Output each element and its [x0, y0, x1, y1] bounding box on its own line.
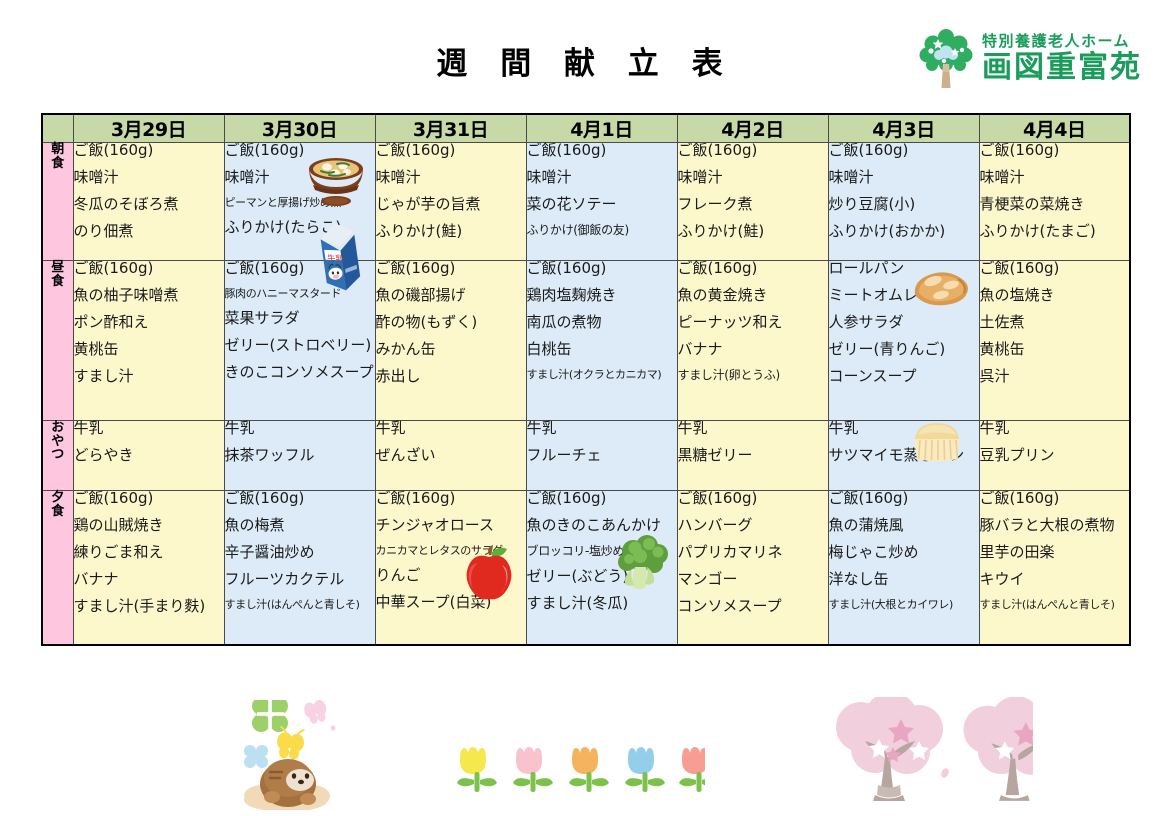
dish-item: ご飯(160g)	[225, 143, 375, 158]
dish-item: みかん缶	[376, 342, 526, 357]
dish-item: サツマイモ蒸しパン	[829, 448, 979, 463]
dish-item: 豚肉のハニーマスタード	[225, 288, 375, 299]
menu-cell: 牛乳抹茶ワッフル	[224, 421, 375, 491]
dish-item: 炒り豆腐(小)	[829, 197, 979, 212]
dish-item: ゼリー(青りんご)	[829, 342, 979, 357]
dish-item: ブロッコリ-塩炒め	[527, 545, 677, 557]
dish-item: 牛乳	[678, 421, 828, 436]
dish-item: フルーツカクテル	[225, 572, 375, 587]
meal-row-0: 朝食ご飯(160g)味噌汁冬瓜のそぼろ煮のり佃煮ご飯(160g)味噌汁ピーマンと…	[42, 143, 1130, 261]
menu-page: 週 間 献 立 表	[0, 0, 1170, 816]
dish-item: ご飯(160g)	[225, 261, 375, 276]
dish-item: すまし汁(オクラとカニカマ)	[527, 369, 677, 380]
menu-cell: ご飯(160g)味噌汁冬瓜のそぼろ煮のり佃煮	[73, 143, 224, 261]
dish-item: 牛乳	[225, 421, 375, 436]
dish-item: バナナ	[678, 342, 828, 357]
dish-item: コンソメスープ	[678, 599, 828, 614]
dish-item: きのこコンソメスープ	[225, 365, 375, 380]
meal-label-char: 食	[43, 275, 73, 289]
menu-cell: ご飯(160g)味噌汁フレーク煮ふりかけ(鮭)	[677, 143, 828, 261]
dish-item: ミートオムレツ	[829, 288, 979, 303]
meal-label-char: つ	[43, 448, 73, 462]
meal-label-char: 昼	[43, 261, 73, 275]
dish-item: ポン酢和え	[74, 315, 224, 330]
footer-decorations	[0, 700, 1170, 816]
day-header-4: 4月1日	[526, 114, 677, 143]
dish-item: ご飯(160g)	[980, 261, 1130, 276]
dish-item: 辛子醤油炒め	[225, 545, 375, 560]
dish-item: ゼリー(ぶどう)	[527, 569, 677, 584]
dish-item: 牛乳	[527, 421, 677, 436]
menu-cell: 牛乳ぜんざい	[375, 421, 526, 491]
meal-row-1: 昼食ご飯(160g)魚の柚子味噌煮ポン酢和え黄桃缶すまし汁ご飯(160g)豚肉の…	[42, 261, 1130, 421]
dish-item: 魚の黄金焼き	[678, 288, 828, 303]
dish-item: 呉汁	[980, 369, 1130, 384]
dish-item: 抹茶ワッフル	[225, 448, 375, 463]
menu-cell: ご飯(160g)味噌汁じゃが芋の旨煮ふりかけ(鮭)	[375, 143, 526, 261]
day-header-5: 4月2日	[677, 114, 828, 143]
menu-cell: ご飯(160g)魚の蒲焼風梅じゃこ炒め洋なし缶すまし汁(大根とカイワレ)	[828, 491, 979, 645]
dish-item: 味噌汁	[74, 170, 224, 185]
dish-item: フルーチェ	[527, 448, 677, 463]
menu-cell: 牛乳黒糖ゼリー	[677, 421, 828, 491]
dish-item: ピーナッツ和え	[678, 315, 828, 330]
dish-item: 梅じゃこ炒め	[829, 545, 979, 560]
dish-item: 黄桃缶	[74, 342, 224, 357]
dish-item: ご飯(160g)	[74, 143, 224, 158]
dish-item: 土佐煮	[980, 315, 1130, 330]
dish-item: ピーマンと厚揚げ炒め煮	[225, 197, 375, 208]
menu-cell: ご飯(160g)味噌汁炒り豆腐(小)ふりかけ(おかか)	[828, 143, 979, 261]
dish-item: ふりかけ(たまご)	[980, 224, 1130, 239]
dish-item: りんご	[376, 568, 526, 583]
meal-label-char: お	[43, 421, 73, 435]
dish-item: 味噌汁	[376, 170, 526, 185]
dish-item: すまし汁(大根とカイワレ)	[829, 599, 979, 610]
dish-item: 菜果サラダ	[225, 311, 375, 326]
menu-cell: ご飯(160g)魚の塩焼き土佐煮黄桃缶呉汁	[979, 261, 1130, 421]
menu-cell: ロールパンミートオムレツ人参サラダゼリー(青りんご)コーンスープ	[828, 261, 979, 421]
menu-cell: 牛乳サツマイモ蒸しパン	[828, 421, 979, 491]
dish-item: ご飯(160g)	[829, 491, 979, 506]
dish-item: ご飯(160g)	[527, 261, 677, 276]
dish-item: 牛乳	[74, 421, 224, 436]
meal-label-3: 夕食	[42, 491, 73, 645]
dish-item: ふりかけ(たらこ)	[225, 220, 375, 235]
menu-cell: ご飯(160g)魚の柚子味噌煮ポン酢和え黄桃缶すまし汁	[73, 261, 224, 421]
day-header-7: 4月4日	[979, 114, 1130, 143]
cherry-blossom-tree-illustration	[823, 697, 1033, 816]
dish-item: ふりかけ(御飯の友)	[527, 224, 677, 236]
menu-cell: ご飯(160g)魚のきのこあんかけブロッコリ-塩炒めゼリー(ぶどう)すまし汁(冬…	[526, 491, 677, 645]
menu-cell: ご飯(160g)魚の梅煮辛子醤油炒めフルーツカクテルすまし汁(はんぺんと青しそ)	[224, 491, 375, 645]
mole-clover-butterfly-illustration	[228, 700, 348, 810]
dish-item: キウイ	[980, 572, 1130, 587]
dish-item: 味噌汁	[225, 170, 375, 185]
dish-item: 魚の塩焼き	[980, 288, 1130, 303]
menu-cell: ご飯(160g)味噌汁ピーマンと厚揚げ炒め煮ふりかけ(たらこ)	[224, 143, 375, 261]
meal-label-char: 朝	[43, 143, 73, 157]
menu-cell: ご飯(160g)鶏の山賊焼き練りごま和えバナナすまし汁(手まり麩)	[73, 491, 224, 645]
dish-item: 牛乳	[376, 421, 526, 436]
meal-label-1: 昼食	[42, 261, 73, 421]
dish-item: ご飯(160g)	[376, 261, 526, 276]
dish-item: 冬瓜のそぼろ煮	[74, 197, 224, 212]
logo-subtitle: 特別養護老人ホーム	[982, 33, 1130, 50]
dish-item: ご飯(160g)	[980, 143, 1130, 158]
dish-item: 鶏肉塩麹焼き	[527, 288, 677, 303]
dish-item: ご飯(160g)	[527, 491, 677, 506]
menu-cell: 牛乳どらやき	[73, 421, 224, 491]
dish-item: ご飯(160g)	[678, 261, 828, 276]
dish-item: ご飯(160g)	[74, 491, 224, 506]
menu-cell: 牛乳豆乳プリン	[979, 421, 1130, 491]
dish-item: ふりかけ(鮭)	[678, 224, 828, 239]
page-header: 週 間 献 立 表	[0, 0, 1170, 108]
dish-item: 魚のきのこあんかけ	[527, 518, 677, 533]
dish-item: 人参サラダ	[829, 315, 979, 330]
dish-item: ご飯(160g)	[376, 143, 526, 158]
dish-item: 牛乳	[980, 421, 1130, 436]
meal-row-3: 夕食ご飯(160g)鶏の山賊焼き練りごま和えバナナすまし汁(手まり麩)ご飯(16…	[42, 491, 1130, 645]
tulips-illustration	[455, 744, 705, 808]
dish-item: ご飯(160g)	[678, 143, 828, 158]
dish-item: チンジャオロース	[376, 518, 526, 533]
dish-item: ゼリー(ストロベリー)	[225, 338, 375, 353]
menu-cell: ご飯(160g)味噌汁青梗菜の菜焼きふりかけ(たまご)	[979, 143, 1130, 261]
menu-cell: 牛乳フルーチェ	[526, 421, 677, 491]
meal-label-0: 朝食	[42, 143, 73, 261]
dish-item: すまし汁(はんぺんと青しそ)	[225, 599, 375, 610]
meal-label-char: 食	[43, 157, 73, 171]
menu-cell: ご飯(160g)豚肉のハニーマスタード菜果サラダゼリー(ストロベリー)きのこコン…	[224, 261, 375, 421]
day-header-3: 3月31日	[375, 114, 526, 143]
dish-item: 豚バラと大根の煮物	[980, 518, 1130, 533]
menu-cell: ご飯(160g)チンジャオロースカニカマとレタスのサラダりんご中華スープ(白菜)	[375, 491, 526, 645]
dish-item: すまし汁(はんぺんと青しそ)	[980, 599, 1130, 610]
dish-item: ご飯(160g)	[74, 261, 224, 276]
dish-item: 赤出し	[376, 369, 526, 384]
dish-item: 魚の蒲焼風	[829, 518, 979, 533]
dish-item: すまし汁(冬瓜)	[527, 596, 677, 611]
table-corner-cell	[42, 114, 73, 143]
dish-item: ご飯(160g)	[980, 491, 1130, 506]
dish-item: ご飯(160g)	[527, 143, 677, 158]
dish-item: ハンバーグ	[678, 518, 828, 533]
dish-item: カニカマとレタスのサラダ	[376, 545, 526, 556]
dish-item: 魚の磯部揚げ	[376, 288, 526, 303]
dish-item: すまし汁	[74, 369, 224, 384]
day-header-1: 3月29日	[73, 114, 224, 143]
meal-row-2: おやつ牛乳どらやき牛乳抹茶ワッフル牛乳ぜんざい牛乳フルーチェ牛乳黒糖ゼリー牛乳サ…	[42, 421, 1130, 491]
dish-item: 中華スープ(白菜)	[376, 595, 526, 610]
dish-item: ふりかけ(鮭)	[376, 224, 526, 239]
meal-label-2: おやつ	[42, 421, 73, 491]
dish-item: 鶏の山賊焼き	[74, 518, 224, 533]
menu-cell: ご飯(160g)魚の磯部揚げ酢の物(もずく)みかん缶赤出し	[375, 261, 526, 421]
dish-item: マンゴー	[678, 572, 828, 587]
dish-item: 豆乳プリン	[980, 448, 1130, 463]
dish-item: 魚の梅煮	[225, 518, 375, 533]
dish-item: 里芋の田楽	[980, 545, 1130, 560]
meal-label-char: や	[43, 435, 73, 449]
menu-cell: ご飯(160g)味噌汁菜の花ソテーふりかけ(御飯の友)	[526, 143, 677, 261]
dish-item: すまし汁(卵とうふ)	[678, 369, 828, 381]
weekly-menu-table-wrapper: 3月29日3月30日3月31日4月1日4月2日4月3日4月4日 朝食ご飯(160…	[41, 113, 1131, 646]
dish-item: 味噌汁	[829, 170, 979, 185]
dish-item: 南瓜の煮物	[527, 315, 677, 330]
dish-item: ご飯(160g)	[376, 491, 526, 506]
dish-item: 菜の花ソテー	[527, 197, 677, 212]
dish-item: 魚の柚子味噌煮	[74, 288, 224, 303]
dish-item: ぜんざい	[376, 448, 526, 463]
dish-item: ふりかけ(おかか)	[829, 224, 979, 239]
weekly-menu-table: 3月29日3月30日3月31日4月1日4月2日4月3日4月4日 朝食ご飯(160…	[41, 113, 1131, 646]
logo-name: 画図重富苑	[982, 52, 1142, 84]
dish-item: 酢の物(もずく)	[376, 315, 526, 330]
dish-item: 牛乳	[829, 421, 979, 436]
dish-item: 洋なし缶	[829, 572, 979, 587]
dish-item: パプリカマリネ	[678, 545, 828, 560]
facility-logo: 特別養護老人ホーム 画図重富苑	[918, 26, 1142, 90]
dish-item: ご飯(160g)	[678, 491, 828, 506]
dish-item: 味噌汁	[678, 170, 828, 185]
dish-item: じゃが芋の旨煮	[376, 197, 526, 212]
dish-item: コーンスープ	[829, 369, 979, 384]
day-header-6: 4月3日	[828, 114, 979, 143]
menu-cell: ご飯(160g)豚バラと大根の煮物里芋の田楽キウイすまし汁(はんぺんと青しそ)	[979, 491, 1130, 645]
menu-cell: ご飯(160g)魚の黄金焼きピーナッツ和えバナナすまし汁(卵とうふ)	[677, 261, 828, 421]
dish-item: ご飯(160g)	[829, 143, 979, 158]
table-header-row: 3月29日3月30日3月31日4月1日4月2日4月3日4月4日	[42, 114, 1130, 143]
table-body: 朝食ご飯(160g)味噌汁冬瓜のそぼろ煮のり佃煮ご飯(160g)味噌汁ピーマンと…	[42, 143, 1130, 645]
dish-item: ご飯(160g)	[225, 491, 375, 506]
menu-cell: ご飯(160g)ハンバーグパプリカマリネマンゴーコンソメスープ	[677, 491, 828, 645]
dish-item: 青梗菜の菜焼き	[980, 197, 1130, 212]
dish-item: 黄桃缶	[980, 342, 1130, 357]
dish-item: ロールパン	[829, 261, 979, 276]
dish-item: のり佃煮	[74, 224, 224, 239]
dish-item: すまし汁(手まり麩)	[74, 599, 224, 614]
day-header-2: 3月30日	[224, 114, 375, 143]
meal-label-char: 食	[43, 505, 73, 519]
dish-item: 白桃缶	[527, 342, 677, 357]
dish-item: バナナ	[74, 572, 224, 587]
meal-label-char: 夕	[43, 491, 73, 505]
dish-item: フレーク煮	[678, 197, 828, 212]
dish-item: 黒糖ゼリー	[678, 448, 828, 463]
dish-item: どらやき	[74, 448, 224, 463]
menu-cell: ご飯(160g)鶏肉塩麹焼き南瓜の煮物白桃缶すまし汁(オクラとカニカマ)	[526, 261, 677, 421]
tree-icon	[918, 26, 974, 90]
dish-item: 練りごま和え	[74, 545, 224, 560]
dish-item: 味噌汁	[980, 170, 1130, 185]
dish-item: 味噌汁	[527, 170, 677, 185]
